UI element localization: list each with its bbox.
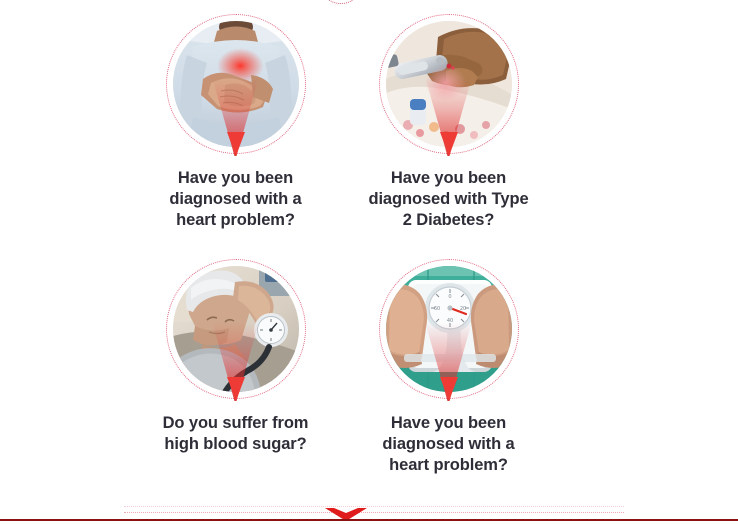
- caption-line: high blood sugar?: [131, 434, 340, 455]
- caption-line: Have you been: [344, 413, 553, 434]
- circle-image-frame: [166, 14, 306, 154]
- caption-line: 2 Diabetes?: [344, 210, 553, 231]
- card-caption: Have you been diagnosed with a heart pro…: [342, 413, 555, 476]
- question-card-heart-problem-top[interactable]: Have you been diagnosed with a heart pro…: [129, 14, 342, 231]
- divider-dotted-rule-upper: [124, 506, 624, 507]
- caption-line: Have you been: [131, 168, 340, 189]
- card-caption: Do you suffer from high blood sugar?: [129, 413, 342, 455]
- dotted-circle-ring: [166, 14, 306, 154]
- dotted-circle-ring: [166, 259, 306, 399]
- caption-line: heart problem?: [344, 455, 553, 476]
- caption-line: Do you suffer from: [131, 413, 340, 434]
- question-card-type-2-diabetes[interactable]: Have you been diagnosed with Type 2 Diab…: [342, 14, 555, 231]
- circle-image-frame: 0 20 40 60: [379, 259, 519, 399]
- card-caption: Have you been diagnosed with Type 2 Diab…: [342, 168, 555, 231]
- question-card-grid: Have you been diagnosed with a heart pro…: [0, 0, 738, 492]
- caption-line: diagnosed with a: [344, 434, 553, 455]
- section-divider: [0, 498, 738, 524]
- divider-baseline-rule: [0, 519, 738, 521]
- circle-image-frame: [166, 259, 306, 399]
- caption-line: diagnosed with Type: [344, 189, 553, 210]
- caption-line: heart problem?: [131, 210, 340, 231]
- caption-line: Have you been: [344, 168, 553, 189]
- question-card-heart-problem-bottom[interactable]: 0 20 40 60: [342, 259, 555, 476]
- question-card-high-blood-sugar[interactable]: Do you suffer from high blood sugar?: [129, 259, 342, 455]
- caption-line: diagnosed with a: [131, 189, 340, 210]
- dotted-circle-ring: [379, 14, 519, 154]
- dotted-circle-ring: [379, 259, 519, 399]
- card-caption: Have you been diagnosed with a heart pro…: [129, 168, 342, 231]
- divider-dotted-rule-lower: [124, 512, 624, 513]
- circle-image-frame: [379, 14, 519, 154]
